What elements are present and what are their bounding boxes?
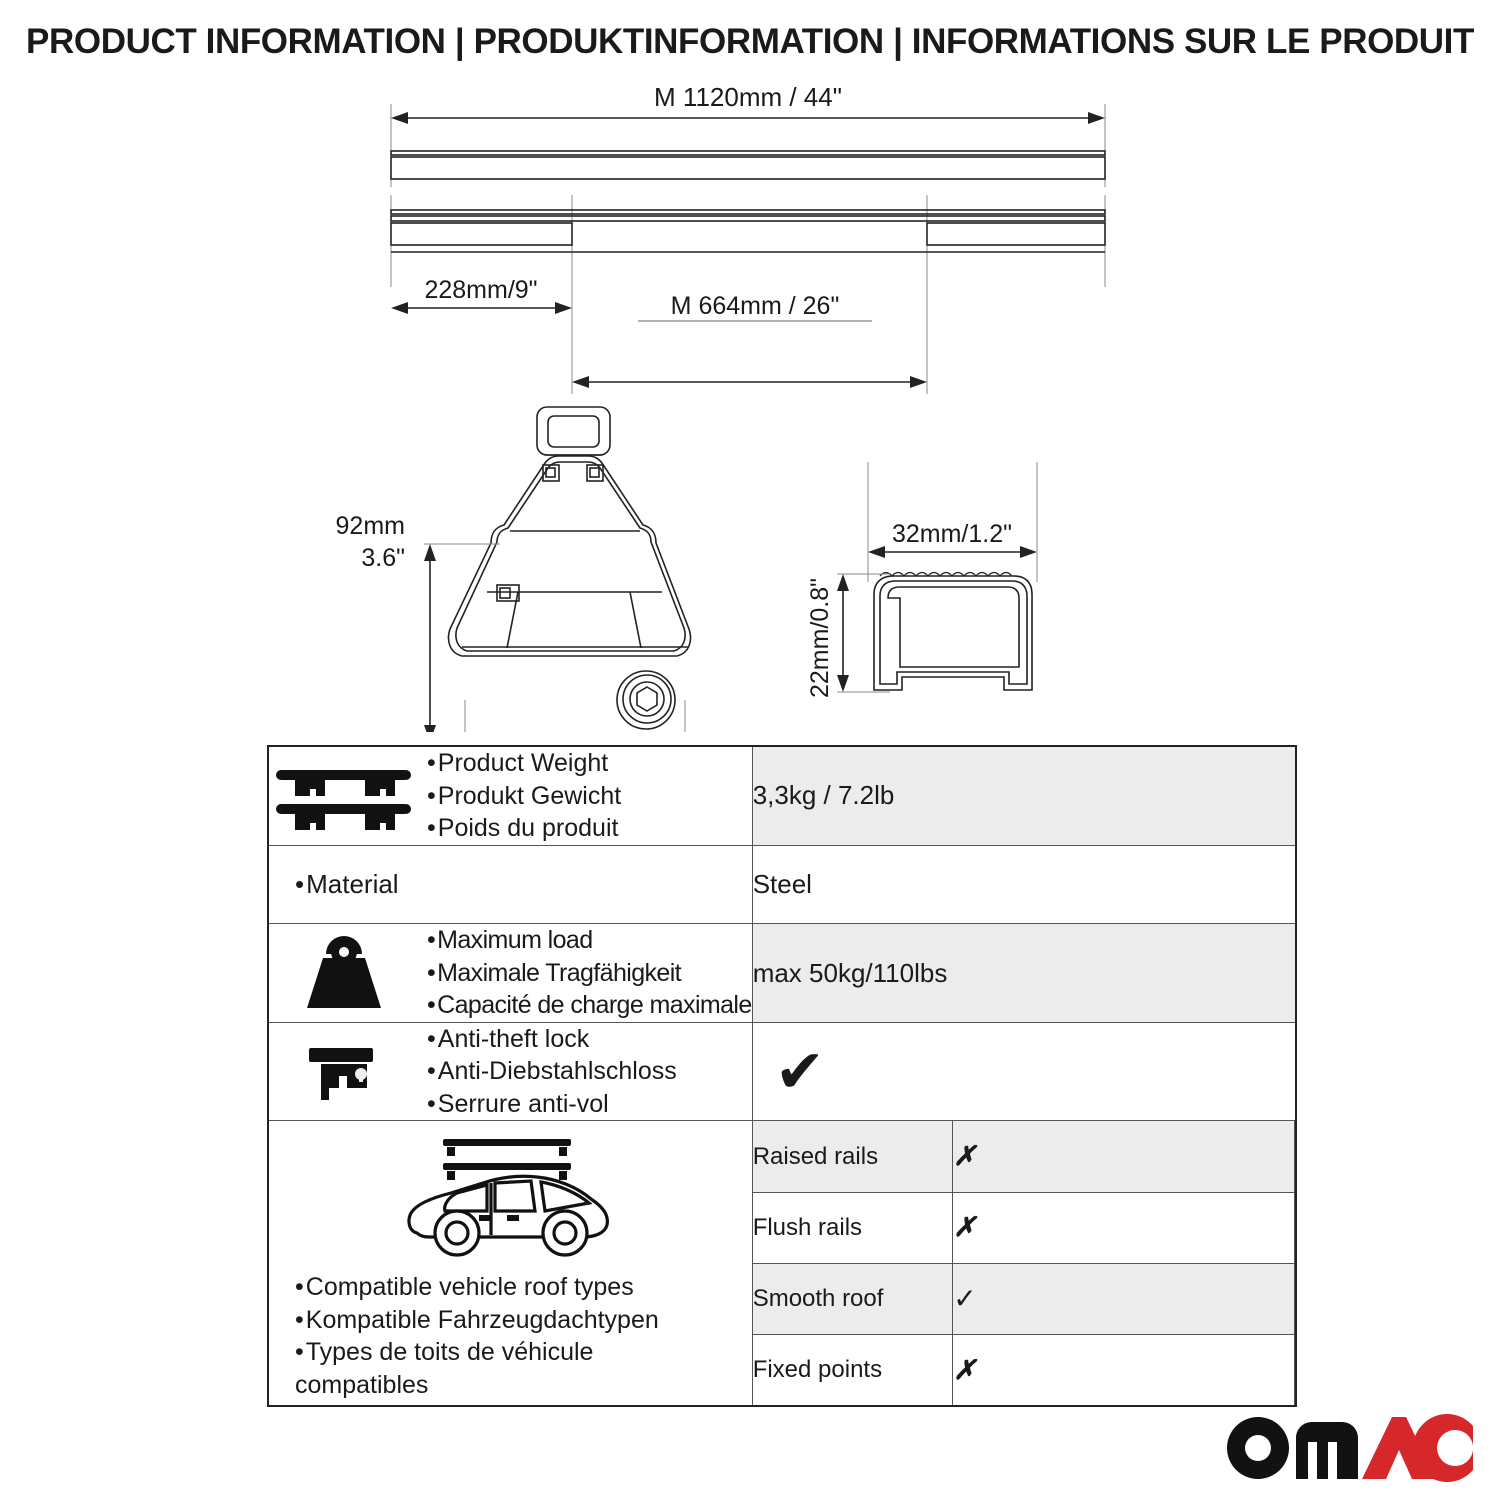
label-line: Maximum load: [427, 924, 752, 957]
label-line: Produkt Gewicht: [427, 780, 621, 813]
check-mark-icon: ✔: [753, 1042, 1295, 1102]
table-row-product-weight: Product Weight Produkt Gewicht Poids du …: [268, 746, 1296, 845]
roof-type-row: Flush rails ✗: [753, 1192, 1295, 1263]
car-with-rack-icon: [269, 1125, 752, 1265]
maximum-load-label-cell: Maximum load Maximale Tragfähigkeit Capa…: [268, 924, 752, 1023]
roof-type-mark-cross-icon: ✗: [953, 1121, 1295, 1192]
roof-type-mark-cross-icon: ✗: [953, 1192, 1295, 1263]
maximum-load-value: max 50kg/110lbs: [752, 924, 1296, 1023]
foot-height-dimension-in: 3.6": [361, 544, 405, 572]
lock-icon: [269, 1034, 419, 1110]
technical-drawings: M 1120mm / 44" 228mm/9" M 664mm / 26" 92…: [0, 82, 1500, 732]
label-line: Anti-theft lock: [427, 1023, 677, 1056]
material-label: Material: [269, 846, 752, 924]
label-line: Product Weight: [427, 747, 621, 780]
anti-theft-label-cell: Anti-theft lock Anti-Diebstahlschloss Se…: [268, 1022, 752, 1121]
bar-length-dimension: M 1120mm / 44": [654, 82, 842, 112]
table-row-maximum-load: Maximum load Maximale Tragfähigkeit Capa…: [268, 924, 1296, 1023]
label-line: Anti-Diebstahlschloss: [427, 1055, 677, 1088]
page-header: PRODUCT INFORMATION | PRODUKTINFORMATION…: [0, 22, 1500, 62]
roof-type-row: Raised rails ✗: [753, 1121, 1295, 1192]
page-title: PRODUCT INFORMATION | PRODUKTINFORMATION…: [0, 22, 1500, 62]
roof-compat-label-cell: Compatible vehicle roof types Kompatible…: [268, 1121, 752, 1407]
roof-type-row: Smooth roof ✓: [753, 1263, 1295, 1334]
product-weight-label-cell: Product Weight Produkt Gewicht Poids du …: [268, 746, 752, 845]
crossbars-icon: [269, 760, 419, 832]
table-row-roof-compatibility: Compatible vehicle roof types Kompatible…: [268, 1121, 1296, 1407]
label-line: Types de toits de véhicule: [295, 1336, 752, 1369]
material-label-cell: Material: [268, 845, 752, 924]
table-row-anti-theft-lock: Anti-theft lock Anti-Diebstahlschloss Se…: [268, 1022, 1296, 1121]
roof-type-mark-check-icon: ✓: [953, 1263, 1295, 1334]
product-weight-labels: Product Weight Produkt Gewicht Poids du …: [427, 747, 621, 845]
material-value: Steel: [752, 845, 1296, 924]
label-line: Kompatible Fahrzeugdachtypen: [295, 1304, 752, 1337]
profile-height-dimension: 22mm/0.8": [806, 578, 834, 698]
label-line: Maximale Tragfähigkeit: [427, 957, 752, 990]
roof-type-name: Flush rails: [753, 1192, 953, 1263]
table-row-material: Material Steel: [268, 845, 1296, 924]
label-line: compatibles: [295, 1369, 752, 1402]
roof-type-mark-cross-icon: ✗: [953, 1334, 1295, 1405]
roof-types-table: Raised rails ✗ Flush rails ✗ Smooth roof…: [753, 1121, 1295, 1405]
label-line: Capacité de charge maximale: [427, 989, 752, 1022]
maximum-load-labels: Maximum load Maximale Tragfähigkeit Capa…: [427, 924, 752, 1022]
foot-height-dimension-mm: 92mm: [336, 512, 405, 540]
roof-types-cell: Raised rails ✗ Flush rails ✗ Smooth roof…: [752, 1121, 1296, 1407]
drawings-svg: M 1120mm / 44" 228mm/9" M 664mm / 26" 92…: [0, 82, 1500, 732]
omac-logo: [1224, 1408, 1474, 1482]
omac-logo-svg: [1224, 1408, 1474, 1482]
product-information-sheet: PRODUCT INFORMATION | PRODUKTINFORMATION…: [0, 0, 1500, 1500]
label-line: Compatible vehicle roof types: [295, 1271, 752, 1304]
roof-type-name: Raised rails: [753, 1121, 953, 1192]
roof-compat-labels: Compatible vehicle roof types Kompatible…: [269, 1271, 752, 1401]
span-dimension: M 664mm / 26": [671, 292, 840, 320]
label-line: Poids du produit: [427, 812, 621, 845]
foot-offset-dimension: 228mm/9": [424, 276, 537, 304]
roof-type-name: Fixed points: [753, 1334, 953, 1405]
profile-width-dimension: 32mm/1.2": [892, 520, 1012, 548]
weight-icon: [269, 932, 419, 1014]
product-weight-value: 3,3kg / 7.2lb: [752, 746, 1296, 845]
roof-type-name: Smooth roof: [753, 1263, 953, 1334]
anti-theft-labels: Anti-theft lock Anti-Diebstahlschloss Se…: [427, 1023, 677, 1121]
label-line: Serrure anti-vol: [427, 1088, 677, 1121]
specification-table: Product Weight Produkt Gewicht Poids du …: [267, 745, 1297, 1407]
anti-theft-value-cell: ✔: [752, 1022, 1296, 1121]
roof-type-row: Fixed points ✗: [753, 1334, 1295, 1405]
